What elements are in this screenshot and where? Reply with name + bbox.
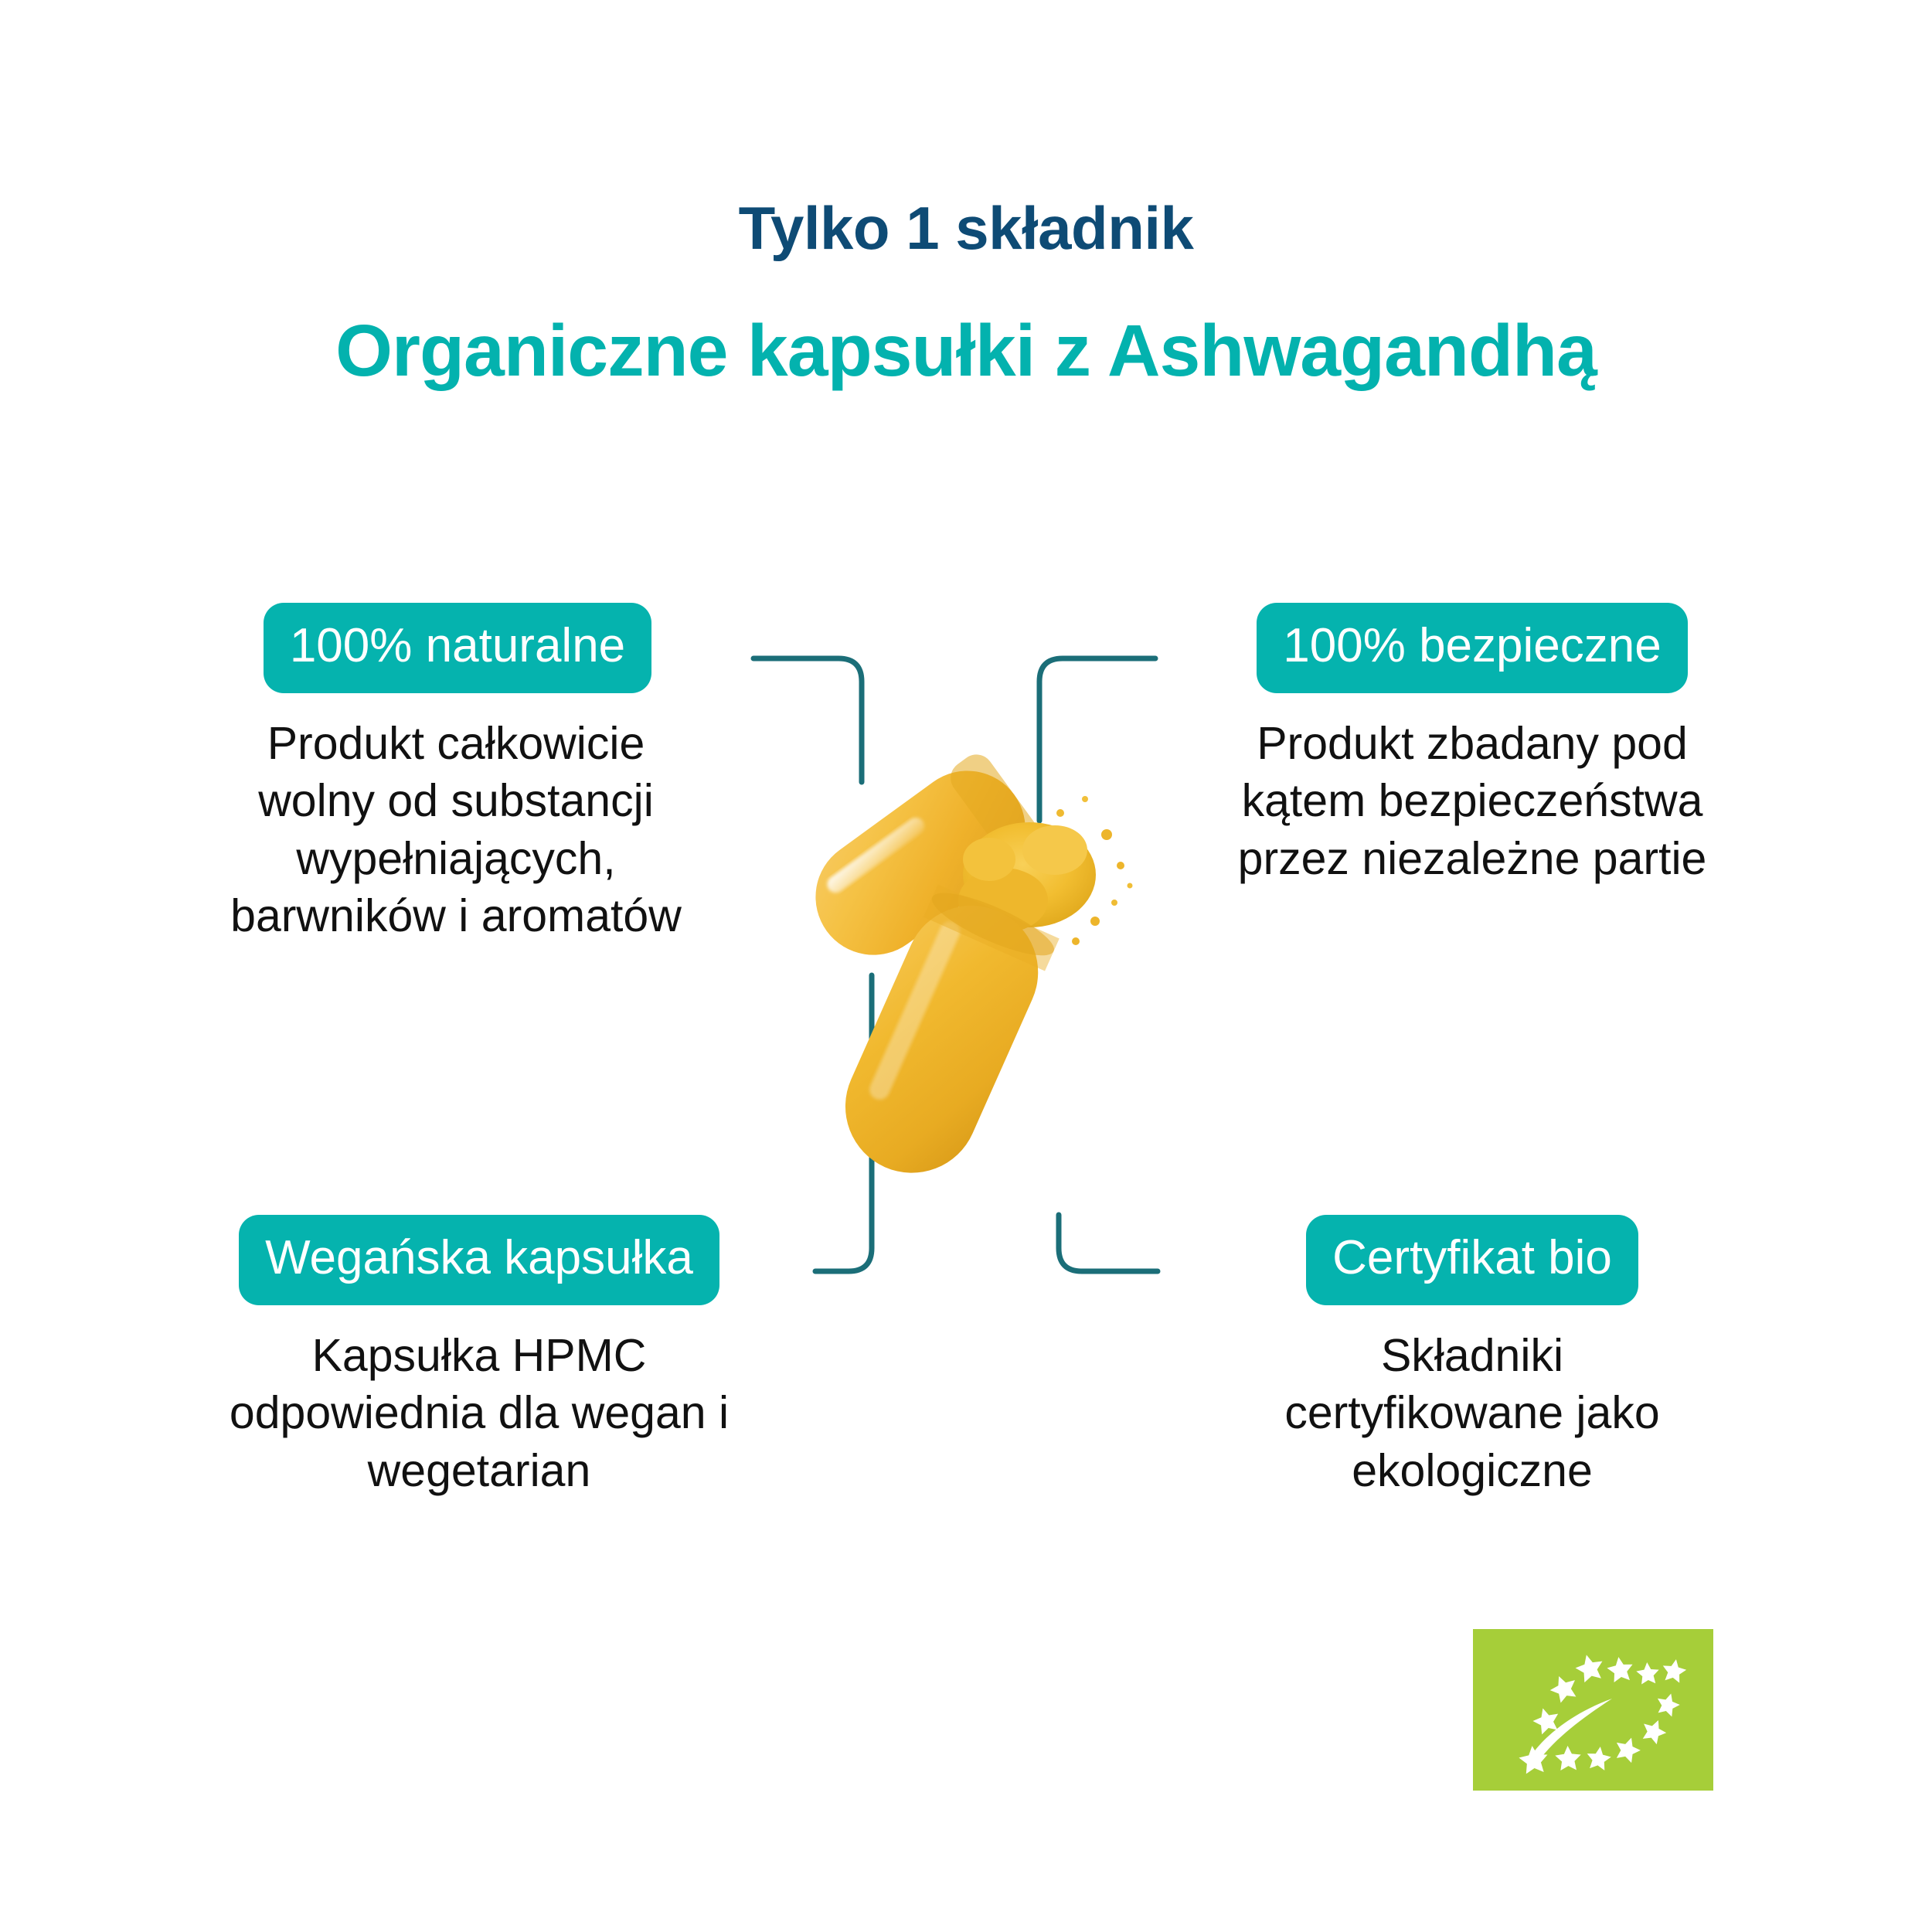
badge-safe[interactable]: 100% bezpieczne [1257, 603, 1687, 693]
capsule-illustration [757, 742, 1190, 1221]
feature-bio-description: Składniki certyfikowane jako ekologiczne [1151, 1327, 1793, 1499]
feature-natural: 100% naturalne Produkt całkowicie wolny … [139, 603, 773, 944]
page-subtitle: Organiczne kapsułki z Ashwagandhą [0, 260, 1932, 390]
connector-line-bio [1059, 1215, 1158, 1271]
badge-vegan[interactable]: Wegańska kapsułka [239, 1215, 719, 1305]
feature-vegan: Wegańska kapsułka Kapsułka HPMC odpowied… [139, 1215, 819, 1499]
product-capsule-image [757, 742, 1190, 1221]
badge-bio[interactable]: Certyfikat bio [1306, 1215, 1638, 1305]
feature-safe: 100% bezpieczne Produkt zbadany pod kąte… [1151, 603, 1793, 887]
feature-vegan-description: Kapsułka HPMC odpowiednia dla wegan i we… [139, 1327, 819, 1499]
badge-natural[interactable]: 100% naturalne [264, 603, 651, 693]
feature-natural-description: Produkt całkowicie wolny od substancji w… [139, 715, 773, 944]
eu-organic-logo [1473, 1629, 1713, 1791]
page-title: Tylko 1 składnik [0, 0, 1932, 260]
headings-block: Tylko 1 składnik Organiczne kapsułki z A… [0, 0, 1932, 390]
feature-bio: Certyfikat bio Składniki certyfikowane j… [1151, 1215, 1793, 1499]
eu-organic-leaf-icon [1473, 1629, 1713, 1791]
feature-safe-description: Produkt zbadany pod kątem bezpieczeństwa… [1151, 715, 1793, 887]
